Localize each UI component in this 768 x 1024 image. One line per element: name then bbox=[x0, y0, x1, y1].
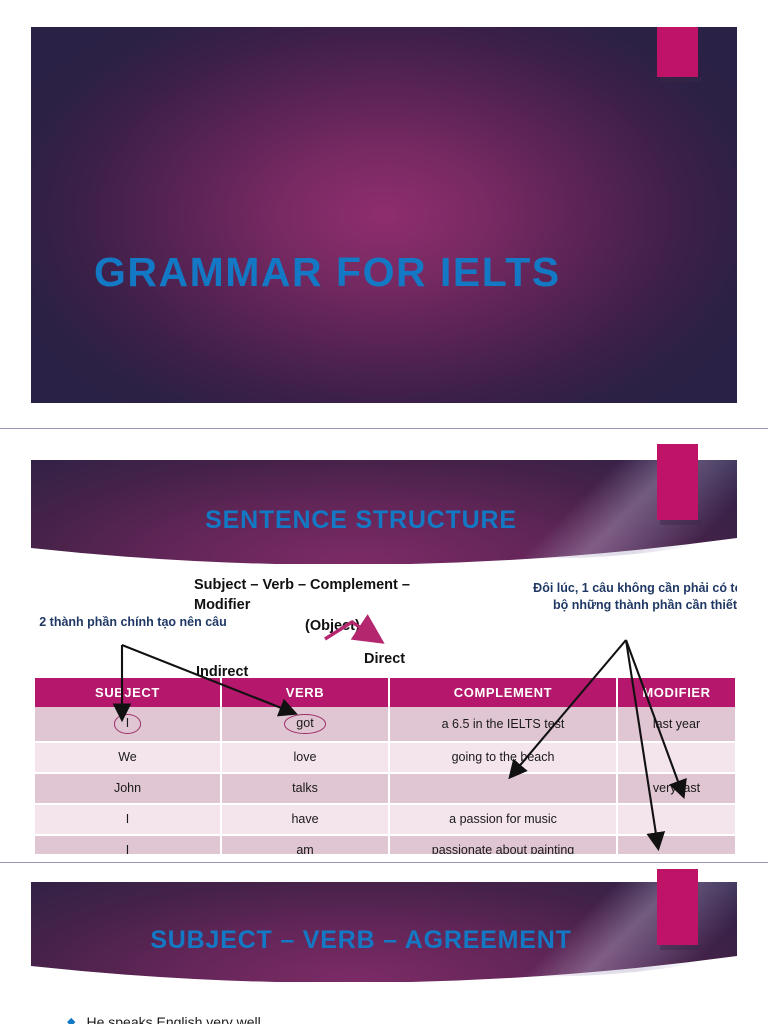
column-header-subject: SUBJECT bbox=[35, 678, 221, 707]
slide-background bbox=[31, 27, 737, 403]
table-row: We love going to the beach bbox=[35, 742, 735, 773]
sentence-structure-table: SUBJECT VERB COMPLEMENT MODIFIER I got a… bbox=[35, 678, 735, 854]
note-right: Đôi lúc, 1 câu không cần phải có toàn bộ… bbox=[529, 580, 737, 614]
slide1-title: GRAMMAR FOR IELTS bbox=[94, 251, 561, 294]
cell-complement bbox=[389, 773, 617, 804]
direct-label: Direct bbox=[364, 651, 405, 667]
circled-subject: I bbox=[114, 714, 141, 734]
accent-bar bbox=[657, 27, 698, 77]
slide-sentence-structure: SENTENCE STRUCTURE Subject – Verb – Comp… bbox=[31, 444, 737, 854]
cell-complement: a 6.5 in the IELTS test bbox=[389, 707, 617, 742]
cell-verb: got bbox=[221, 707, 389, 742]
cell-verb: have bbox=[221, 804, 389, 835]
cell-subject: I bbox=[35, 804, 221, 835]
cell-complement: passionate about painting bbox=[389, 835, 617, 854]
cell-subject: John bbox=[35, 773, 221, 804]
cell-verb: am bbox=[221, 835, 389, 854]
column-header-complement: COMPLEMENT bbox=[389, 678, 617, 707]
table-row: I got a 6.5 in the IELTS test last year bbox=[35, 707, 735, 742]
cell-subject: We bbox=[35, 742, 221, 773]
list-item: ◆ He speaks English very well bbox=[67, 1014, 261, 1024]
slide3-banner: SUBJECT – VERB – AGREEMENT bbox=[31, 882, 737, 982]
slide3-title: SUBJECT – VERB – AGREEMENT bbox=[31, 926, 691, 955]
cell-complement: a passion for music bbox=[389, 804, 617, 835]
slide2-banner: SENTENCE STRUCTURE bbox=[31, 460, 737, 564]
cell-verb: talks bbox=[221, 773, 389, 804]
table-row: I have a passion for music bbox=[35, 804, 735, 835]
slide-separator bbox=[0, 428, 768, 429]
accent-bar bbox=[657, 444, 698, 520]
column-header-modifier: MODIFIER bbox=[617, 678, 735, 707]
presentation-page: GRAMMAR FOR IELTS SENTENCE STRUCTURE Sub… bbox=[0, 0, 768, 1024]
column-header-verb: VERB bbox=[221, 678, 389, 707]
slide-subject-verb-agreement: SUBJECT – VERB – AGREEMENT ◆ He speaks E… bbox=[31, 869, 737, 1024]
cell-modifier bbox=[617, 804, 735, 835]
cell-modifier: last year bbox=[617, 707, 735, 742]
circled-verb: got bbox=[284, 714, 325, 734]
cell-complement: going to the beach bbox=[389, 742, 617, 773]
cell-modifier: very fast bbox=[617, 773, 735, 804]
cell-subject: I bbox=[35, 707, 221, 742]
accent-bar bbox=[657, 869, 698, 945]
slide-title: GRAMMAR FOR IELTS bbox=[31, 27, 737, 403]
cell-modifier bbox=[617, 835, 735, 854]
bullet-text: He speaks English very well bbox=[86, 1014, 260, 1024]
diamond-bullet-icon: ◆ bbox=[67, 1017, 75, 1024]
table-row: John talks very fast bbox=[35, 773, 735, 804]
note-left: 2 thành phần chính tạo nên câu bbox=[38, 614, 228, 631]
object-label: (Object) bbox=[305, 618, 360, 634]
table-row: I am passionate about painting bbox=[35, 835, 735, 854]
cell-verb: love bbox=[221, 742, 389, 773]
cell-modifier bbox=[617, 742, 735, 773]
slide-separator bbox=[0, 862, 768, 863]
slide2-title: SENTENCE STRUCTURE bbox=[31, 506, 691, 535]
table-header-row: SUBJECT VERB COMPLEMENT MODIFIER bbox=[35, 678, 735, 707]
formula-label: Subject – Verb – Complement – Modifier bbox=[194, 576, 454, 615]
cell-subject: I bbox=[35, 835, 221, 854]
